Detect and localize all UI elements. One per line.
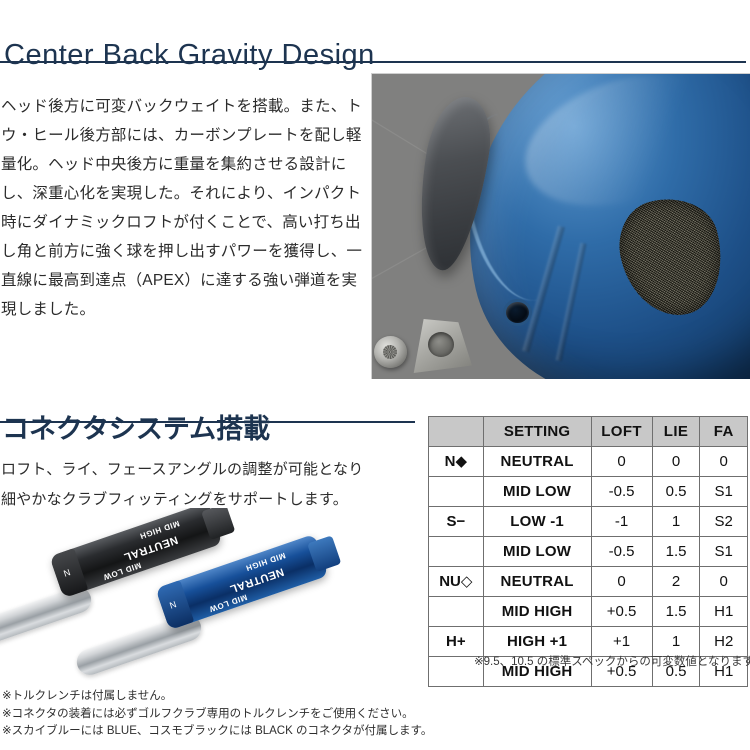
cell-key: H+ [429, 627, 484, 657]
sleeve-tip [307, 535, 341, 572]
header-loft: LOFT [591, 417, 652, 447]
table-row: N◆ NEUTRAL 0 0 0 [429, 447, 748, 477]
header-lie: LIE [652, 417, 700, 447]
sleeve-label-mid-low: MID LOW [102, 560, 143, 581]
cell-loft: +0.5 [591, 597, 652, 627]
cell-key: S− [429, 507, 484, 537]
table-row: MID HIGH +0.5 1.5 H1 [429, 597, 748, 627]
section-title-connector: コネクタシステム搭載 [2, 407, 270, 446]
back-weight-bore [428, 332, 454, 357]
table-header-row: SETTING LOFT LIE FA [429, 417, 748, 447]
cell-lie: 1 [652, 507, 700, 537]
weight-port [506, 302, 529, 323]
cell-fa: 0 [700, 447, 748, 477]
cell-loft: +1 [591, 627, 652, 657]
disclaimer-line: ※トルクレンチは付属しません。 [2, 688, 432, 706]
cell-fa: S1 [700, 477, 748, 507]
header-setting: SETTING [483, 417, 591, 447]
cell-lie: 1 [652, 627, 700, 657]
cell-fa: S1 [700, 537, 748, 567]
cell-fa: H1 [700, 597, 748, 627]
cell-lie: 2 [652, 567, 700, 597]
sleeve-tip [201, 508, 235, 540]
cell-lie: 1.5 [652, 537, 700, 567]
cell-key: NU◇ [429, 567, 484, 597]
cell-loft: 0 [591, 447, 652, 477]
connector-description: ロフト、ライ、フェースアングルの調整が可能となり細やかなクラブフィッティングをサ… [1, 455, 373, 515]
hero-description: ヘッド後方に可変バックウェイトを搭載。また、トウ・ヒール後方部には、カーボンプレ… [1, 92, 369, 324]
cell-setting: MID LOW [483, 537, 591, 567]
cell-setting: MID LOW [483, 477, 591, 507]
header-key [429, 417, 484, 447]
table-row: MID LOW -0.5 1.5 S1 [429, 537, 748, 567]
cell-fa: S2 [700, 507, 748, 537]
cell-key [429, 477, 484, 507]
cell-setting: HIGH +1 [483, 627, 591, 657]
disclaimer-list: ※トルクレンチは付属しません。 ※コネクタの装着には必ずゴルフクラブ専用のトルク… [2, 688, 432, 741]
cell-key: N◆ [429, 447, 484, 477]
sleeve-label-mid-low: MID LOW [208, 592, 249, 613]
cell-fa: 0 [700, 567, 748, 597]
title-divider [0, 61, 746, 63]
connector-spec-table: SETTING LOFT LIE FA N◆ NEUTRAL 0 0 0 MID… [428, 416, 748, 687]
cell-lie: 0 [652, 447, 700, 477]
cell-key [429, 597, 484, 627]
cell-loft: -0.5 [591, 537, 652, 567]
weight-screw-part [374, 336, 407, 368]
cell-key [429, 537, 484, 567]
cell-lie: 1.5 [652, 597, 700, 627]
driver-head-photo [371, 73, 750, 379]
table-row: MID LOW -0.5 0.5 S1 [429, 477, 748, 507]
cell-loft: -1 [591, 507, 652, 537]
connector-sleeves-photo: MID HIGH NEUTRAL MID LOW N MID HIGH NEUT… [0, 508, 418, 683]
cell-fa: H2 [700, 627, 748, 657]
section-divider [0, 421, 415, 423]
table-footnote: ※9.5、10.5 の標準スペックからの可変数値となります。 [474, 653, 750, 669]
shaft-chrome [0, 584, 95, 651]
header-fa: FA [700, 417, 748, 447]
cell-setting: LOW -1 [483, 507, 591, 537]
cell-setting: NEUTRAL [483, 447, 591, 477]
cell-loft: -0.5 [591, 477, 652, 507]
table-row: S− LOW -1 -1 1 S2 [429, 507, 748, 537]
cell-setting: NEUTRAL [483, 567, 591, 597]
table-row: H+ HIGH +1 +1 1 H2 [429, 627, 748, 657]
cell-lie: 0.5 [652, 477, 700, 507]
sleeve-label-neutral: NEUTRAL [228, 565, 286, 595]
cell-loft: 0 [591, 567, 652, 597]
product-detail-page: Center Back Gravity Design ヘッド後方に可変バックウェ… [0, 0, 750, 750]
page-title: Center Back Gravity Design [4, 39, 375, 72]
disclaimer-line: ※スカイブルーには BLUE、コスモブラックには BLACK のコネクタが付属し… [2, 723, 432, 741]
cell-setting: MID HIGH [483, 597, 591, 627]
sleeve-label-neutral: NEUTRAL [122, 533, 180, 563]
disclaimer-line: ※コネクタの装着には必ずゴルフクラブ専用のトルクレンチをご使用ください。 [2, 706, 432, 724]
table-row: NU◇ NEUTRAL 0 2 0 [429, 567, 748, 597]
